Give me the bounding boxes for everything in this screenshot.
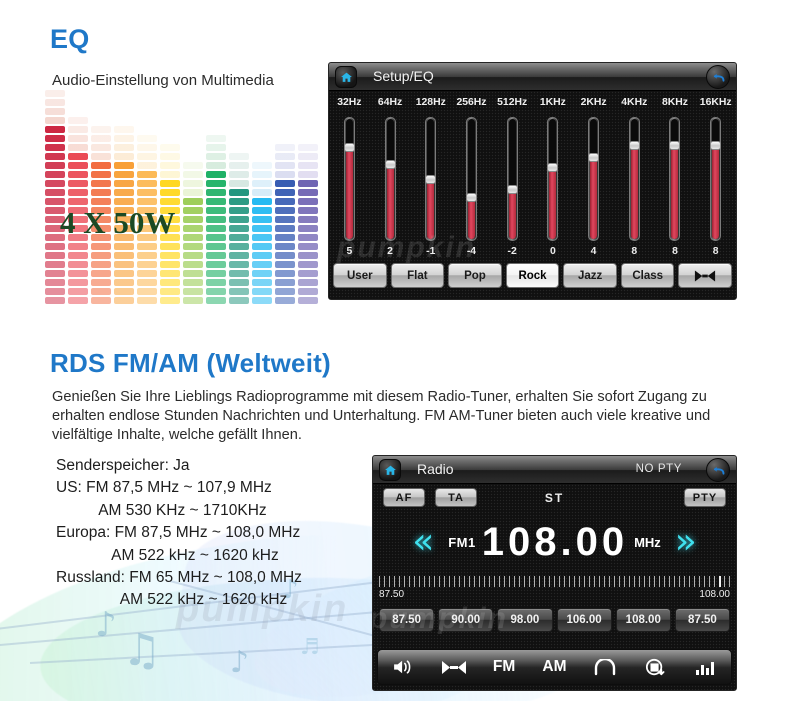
equalizer-graphic-cell [229,198,249,205]
eq-slider-groove [671,119,678,239]
equalizer-graphic-cell [114,270,134,277]
eq-slider-fill [712,145,719,239]
eq-slider-fill [631,145,638,239]
eq-slider-track-5[interactable] [547,117,558,241]
equalizer-graphic-cell [252,252,272,259]
eq-slider-5[interactable] [533,117,574,241]
equalizer-graphic-cell [91,153,111,160]
eq-titlebar: Setup/EQ [329,63,736,91]
equalizer-graphic-cell [229,189,249,196]
equalizer-graphic-cell [298,162,318,169]
equalizer-graphic-cell [183,207,203,214]
back-arrow-icon[interactable] [706,458,730,482]
eq-band-label-9: 16KHz [695,97,736,108]
equalizer-graphic-cell [206,225,226,232]
equalizer-graphic-cell [114,288,134,295]
equalizer-graphic-cell [137,288,157,295]
equalizer-graphic-cell [160,252,180,259]
equalizer-graphic-cell [275,216,295,223]
radio-preset-4-button[interactable]: 106.00 [557,608,612,632]
radio-preset-2-button[interactable]: 90.00 [438,608,493,632]
equalizer-graphic-cell [229,153,249,160]
equalizer-graphic-cell [160,144,180,151]
equalizer-graphic-cell [114,252,134,259]
equalizer-graphic-cell [114,126,134,133]
eq-value-label-4: -2 [492,246,533,257]
eq-slider-3[interactable] [451,117,492,241]
equalizer-graphic-cell [68,135,88,142]
equalizer-graphic-cell [275,225,295,232]
equalizer-graphic-cell [298,225,318,232]
equalizer-graphic-cell [45,162,65,169]
equalizer-graphic-cell [183,288,203,295]
equalizer-graphic-cell [91,288,111,295]
equalizer-graphic-cell [68,171,88,178]
equalizer-graphic-cell [206,243,226,250]
equalizer-graphic-cell [298,207,318,214]
eq-slider-knob-5[interactable] [547,163,558,172]
eq-band-label-1: 64Hz [370,97,411,108]
equalizer-graphic-cell [91,189,111,196]
eq-slider-groove [712,119,719,239]
equalizer-graphic-cell [114,171,134,178]
scan-save-icon[interactable] [630,658,680,677]
home-icon[interactable] [379,459,401,481]
eq-section-title: EQ [50,24,89,55]
skip-icon[interactable] [428,661,478,674]
eq-preset-buttons[interactable]: UserFlatPopRockJazzClass [333,263,732,288]
equalizer-graphic-cell [206,216,226,223]
equalizer-graphic-cell [137,153,157,160]
equalizer-graphic-cell [252,189,272,196]
equalizer-graphic-cell [298,153,318,160]
equalizer-graphic-cell [91,126,111,133]
eq-slider-knob-3[interactable] [466,193,477,202]
equalizer-graphic-cell [45,288,65,295]
equalizer-graphic-cell [137,180,157,187]
equalizer-graphic-cell [160,288,180,295]
equalizer-graphic-cell [206,234,226,241]
eq-slider-track-1[interactable] [385,117,396,241]
equalizer-graphic-cell [206,297,226,304]
volume-icon[interactable] [378,659,428,675]
equalizer-graphic-cell [68,198,88,205]
equalizer-graphic-cell [298,189,318,196]
eq-value-labels: 52-1-4-204888 [329,246,736,257]
equalizer-graphic-cell [229,270,249,277]
equalizer-graphic-cell [275,144,295,151]
eq-slider-fill [427,179,434,239]
eq-slider-knob-2[interactable] [425,175,436,184]
eq-slider-groove [590,119,597,239]
equalizer-graphic-cell [298,270,318,277]
equalizer-graphic-cell [275,270,295,277]
equalizer-graphic-cell [229,216,249,223]
equalizer-graphic-cell [45,279,65,286]
equalizer-graphic-cell [45,99,65,106]
band-label: FM1 [448,535,476,550]
am-button[interactable]: AM [529,658,579,676]
equalizer-graphic-cell [252,225,272,232]
equalizer-graphic-cell [160,270,180,277]
radio-preset-3-button[interactable]: 98.00 [497,608,552,632]
eq-slider-track-9[interactable] [710,117,721,241]
equalizer-graphic-cell [114,153,134,160]
equalizer-graphic-cell [298,288,318,295]
eq-value-label-1: 2 [370,246,411,257]
equalizer-graphic-cell [160,198,180,205]
eq-slider-fill [468,197,475,239]
equalizer-graphic-cell [229,171,249,178]
equalizer-graphic-cell [68,153,88,160]
chevron-left-double-icon[interactable]: « [412,524,434,560]
fm-button[interactable]: FM [479,658,529,676]
equalizer-graphic-cell [68,189,88,196]
equalizer-graphic-cell [91,270,111,277]
eq-slider-track-6[interactable] [588,117,599,241]
equalizer-graphic-cell [137,144,157,151]
eq-band-label-4: 512Hz [492,97,533,108]
equalizer-graphic-cell [45,108,65,115]
equalizer-graphic-cell [91,198,111,205]
equalizer-graphic-cell [68,288,88,295]
eq-slider-2[interactable] [410,117,451,241]
equalizer-graphic-cell [160,279,180,286]
equalizer-graphic-cell [298,297,318,304]
radio-preset-1-button[interactable]: 87.50 [379,608,434,632]
equalizer-graphic-cell [114,189,134,196]
equalizer-graphic-cell [137,198,157,205]
equalizer-graphic-cell [183,261,203,268]
radio-preset-5-button[interactable]: 108.00 [616,608,671,632]
equalizer-graphic-cell [68,144,88,151]
equalizer-graphic-cell [275,171,295,178]
home-icon[interactable] [335,66,357,88]
equalizer-graphic-cell [91,279,111,286]
equalizer-graphic-cell [114,279,134,286]
eq-slider-track-2[interactable] [425,117,436,241]
scale-ticks [379,576,730,587]
equalizer-graphic-cell [298,180,318,187]
equalizer-graphic-cell [68,243,88,250]
equalizer-graphic-cell [252,234,272,241]
radio-preset-6-button[interactable]: 87.50 [675,608,730,632]
equalizer-graphic-cell [252,207,272,214]
equalizer-graphic-cell [298,252,318,259]
equalizer-graphic-cell [298,279,318,286]
eq-slider-knob-7[interactable] [629,141,640,150]
pty-button[interactable]: PTY [684,488,726,507]
equalizer-graphic-cell [114,144,134,151]
equalizer-graphic-cell [183,180,203,187]
equalizer-graphic-cell [91,144,111,151]
eq-screen-title: Setup/EQ [373,68,434,84]
equalizer-graphic-column [45,90,65,304]
frequency-unit: MHz [634,535,661,550]
equalizer-graphic-cell [229,297,249,304]
equalizer-graphic-cell [68,162,88,169]
equalizer-icon[interactable] [681,660,731,675]
equalizer-graphic-cell [45,126,65,133]
eq-preset-class-button[interactable]: Class [621,263,675,288]
equalizer-graphic-cell [114,180,134,187]
eq-slider-7[interactable] [614,117,655,241]
eq-slider-track-4[interactable] [507,117,518,241]
equalizer-graphic-cell [68,126,88,133]
skip-icon[interactable] [678,263,732,288]
back-arrow-icon[interactable] [706,65,730,89]
eq-value-label-8: 8 [655,246,696,257]
equalizer-graphic-cell [45,135,65,142]
eq-slider-track-0[interactable] [344,117,355,241]
equalizer-graphic-cell [206,180,226,187]
equalizer-graphic-cell [137,279,157,286]
equalizer-graphic-cell [206,261,226,268]
equalizer-graphic-cell [298,171,318,178]
equalizer-graphic-cell [114,135,134,142]
equalizer-graphic-cell [91,243,111,250]
equalizer-graphic-cell [45,180,65,187]
equalizer-graphic-cell [229,162,249,169]
equalizer-graphic-cell [229,225,249,232]
music-note-icon: ♪ [230,645,249,680]
equalizer-graphic-cell [68,279,88,286]
equalizer-graphic-cell [91,261,111,268]
eq-band-label-6: 2KHz [573,97,614,108]
chevron-right-double-icon[interactable]: » [675,524,697,560]
equalizer-graphic-column [229,153,249,304]
eq-slider-knob-6[interactable] [588,153,599,162]
equalizer-graphic-cell [229,288,249,295]
scale-min-label: 87.50 [379,589,404,600]
eq-band-label-2: 128Hz [410,97,451,108]
equalizer-graphic-cell [183,270,203,277]
equalizer-graphic-cell [206,153,226,160]
equalizer-graphic-cell [160,297,180,304]
eq-band-label-0: 32Hz [329,97,370,108]
music-note-icon: ♬ [300,635,320,660]
equalizer-graphic-column [183,162,203,304]
eq-band-label-8: 8KHz [655,97,696,108]
eq-slider-track-7[interactable] [629,117,640,241]
equalizer-graphic-cell [137,135,157,142]
rds-section-title: RDS FM/AM (Weltweit) [50,348,331,379]
eq-slider-9[interactable] [695,117,736,241]
rds-spec-list: Senderspeicher: Ja US: FM 87,5 MHz ~ 107… [56,455,302,612]
equalizer-graphic-cell [137,261,157,268]
equalizer-graphic-cell [275,252,295,259]
equalizer-graphic-column [206,135,226,304]
equalizer-graphic-cell [91,252,111,259]
radio-preset-buttons[interactable]: 87.5090.0098.00106.00108.0087.50 [379,608,730,632]
equalizer-graphic-cell [45,90,65,97]
equalizer-graphic-cell [183,189,203,196]
headphone-icon[interactable] [580,659,630,676]
equalizer-graphic-cell [137,162,157,169]
eq-slider-0[interactable] [329,117,370,241]
eq-value-label-2: -1 [410,246,451,257]
equalizer-graphic-cell [137,270,157,277]
equalizer-graphic-cell [206,207,226,214]
equalizer-graphic-cell [45,171,65,178]
eq-slider-fill [671,145,678,239]
eq-slider-1[interactable] [370,117,411,241]
equalizer-graphic-cell [229,252,249,259]
equalizer-graphic-column [252,162,272,304]
equalizer-graphic-cell [45,153,65,160]
eq-slider-fill [549,167,556,239]
equalizer-graphic-cell [275,288,295,295]
eq-preset-flat-button[interactable]: Flat [391,263,445,288]
equalizer-graphic-cell [45,261,65,268]
equalizer-graphic-cell [183,243,203,250]
equalizer-graphic-cell [206,270,226,277]
eq-slider-knob-1[interactable] [385,160,396,169]
equalizer-graphic-cell [252,171,272,178]
equalizer-graphic-cell [275,189,295,196]
equalizer-graphic-cell [252,180,272,187]
equalizer-graphic-cell [91,297,111,304]
eq-slider-track-3[interactable] [466,117,477,241]
equalizer-graphic-cell [275,207,295,214]
equalizer-graphic-cell [229,180,249,187]
equalizer-graphic-cell [298,234,318,241]
eq-slider-knob-9[interactable] [710,141,721,150]
eq-preset-user-button[interactable]: User [333,263,387,288]
scale-marker [719,576,721,587]
equalizer-graphic-cell [206,189,226,196]
ribbon-line [30,643,390,664]
eq-slider-track-8[interactable] [669,117,680,241]
equalizer-graphic-cell [206,144,226,151]
eq-sliders[interactable] [329,117,736,245]
equalizer-graphic-cell [160,162,180,169]
eq-value-label-5: 0 [533,246,574,257]
equalizer-graphic-cell [206,279,226,286]
equalizer-graphic-cell [68,270,88,277]
equalizer-graphic-cell [206,135,226,142]
equalizer-graphic-cell [68,261,88,268]
ribbon-line [0,609,399,646]
equalizer-graphic-cell [160,171,180,178]
equalizer-graphic-cell [45,297,65,304]
equalizer-graphic-column [275,144,295,304]
equalizer-graphic-cell [183,225,203,232]
equalizer-graphic-cell [252,162,272,169]
equalizer-graphic-cell [275,261,295,268]
equalizer-graphic-cell [252,288,272,295]
equalizer-graphic-cell [229,279,249,286]
eq-slider-6[interactable] [573,117,614,241]
radio-screen-body: AF TA ST PTY « FM1 108.00 MHz » 87.50 10… [373,484,736,691]
equalizer-graphic-cell [183,171,203,178]
equalizer-graphic-cell [183,297,203,304]
eq-slider-groove [468,119,475,239]
equalizer-graphic-cell [68,117,88,124]
eq-slider-4[interactable] [492,117,533,241]
equalizer-graphic-cell [45,270,65,277]
pty-status-label: NO PTY [636,463,682,475]
equalizer-graphic-cell [252,270,272,277]
frequency-display: « FM1 108.00 MHz » [373,514,736,570]
equalizer-graphic-cell [275,243,295,250]
eq-device-screen: Setup/EQ 32Hz64Hz128Hz256Hz512Hz1KHz2KHz… [328,62,737,300]
equalizer-graphic-cell [114,198,134,205]
eq-slider-fill [590,157,597,239]
equalizer-graphic-cell [252,216,272,223]
tuning-scale[interactable]: 87.50 108.00 [379,576,730,606]
eq-section-subtitle: Audio-Einstellung von Multimedia [52,72,274,89]
eq-preset-rock-button[interactable]: Rock [506,263,560,288]
equalizer-graphic-cell [160,243,180,250]
equalizer-graphic-cell [45,189,65,196]
equalizer-graphic-cell [298,198,318,205]
equalizer-graphic-cell [91,162,111,169]
equalizer-graphic-cell [68,297,88,304]
equalizer-graphic-cell [275,153,295,160]
equalizer-graphic-cell [160,189,180,196]
eq-slider-knob-4[interactable] [507,185,518,194]
equalizer-graphic-cell [45,198,65,205]
eq-band-label-7: 4KHz [614,97,655,108]
eq-preset-jazz-button[interactable]: Jazz [563,263,617,288]
equalizer-graphic-cell [252,279,272,286]
equalizer-graphic-cell [206,288,226,295]
equalizer-graphic-cell [252,261,272,268]
equalizer-graphic-cell [229,243,249,250]
equalizer-graphic-cell [137,189,157,196]
radio-toolbar[interactable]: FMAM [377,649,732,685]
equalizer-graphic-cell [114,243,134,250]
equalizer-graphic-cell [114,162,134,169]
equalizer-graphic-cell [91,180,111,187]
equalizer-graphic-cell [91,135,111,142]
equalizer-graphic-cell [137,252,157,259]
equalizer-graphic-cell [137,297,157,304]
eq-band-label-5: 1KHz [533,97,574,108]
equalizer-graphic-cell [137,171,157,178]
rds-section-paragraph: Genießen Sie Ihre Lieblings Radioprogram… [52,388,762,445]
equalizer-graphic-cell [45,252,65,259]
equalizer-graphic-cell [298,144,318,151]
equalizer-graphic-cell [275,162,295,169]
eq-slider-groove [631,119,638,239]
eq-slider-fill [387,165,394,239]
eq-slider-8[interactable] [655,117,696,241]
stereo-indicator: ST [373,491,736,505]
equalizer-graphic-cell [137,243,157,250]
eq-slider-fill [509,189,516,239]
eq-screen-body: 32Hz64Hz128Hz256Hz512Hz1KHz2KHz4KHz8KHz1… [329,91,736,300]
equalizer-graphic-cell [298,243,318,250]
equalizer-graphic-cell [68,180,88,187]
equalizer-graphic-cell [68,252,88,259]
equalizer-graphic-cell [275,198,295,205]
equalizer-graphic-cell [183,234,203,241]
eq-slider-groove [346,119,353,239]
frequency-value: 108.00 [482,522,628,562]
eq-slider-groove [387,119,394,239]
radio-titlebar: Radio NO PTY [373,456,736,484]
equalizer-graphic-column [298,144,318,304]
equalizer-graphic-cell [45,117,65,124]
eq-preset-pop-button[interactable]: Pop [448,263,502,288]
equalizer-graphic-cell [229,234,249,241]
eq-slider-knob-0[interactable] [344,143,355,152]
eq-slider-knob-8[interactable] [669,141,680,150]
equalizer-graphic-cell [229,261,249,268]
equalizer-graphic-cell [91,171,111,178]
